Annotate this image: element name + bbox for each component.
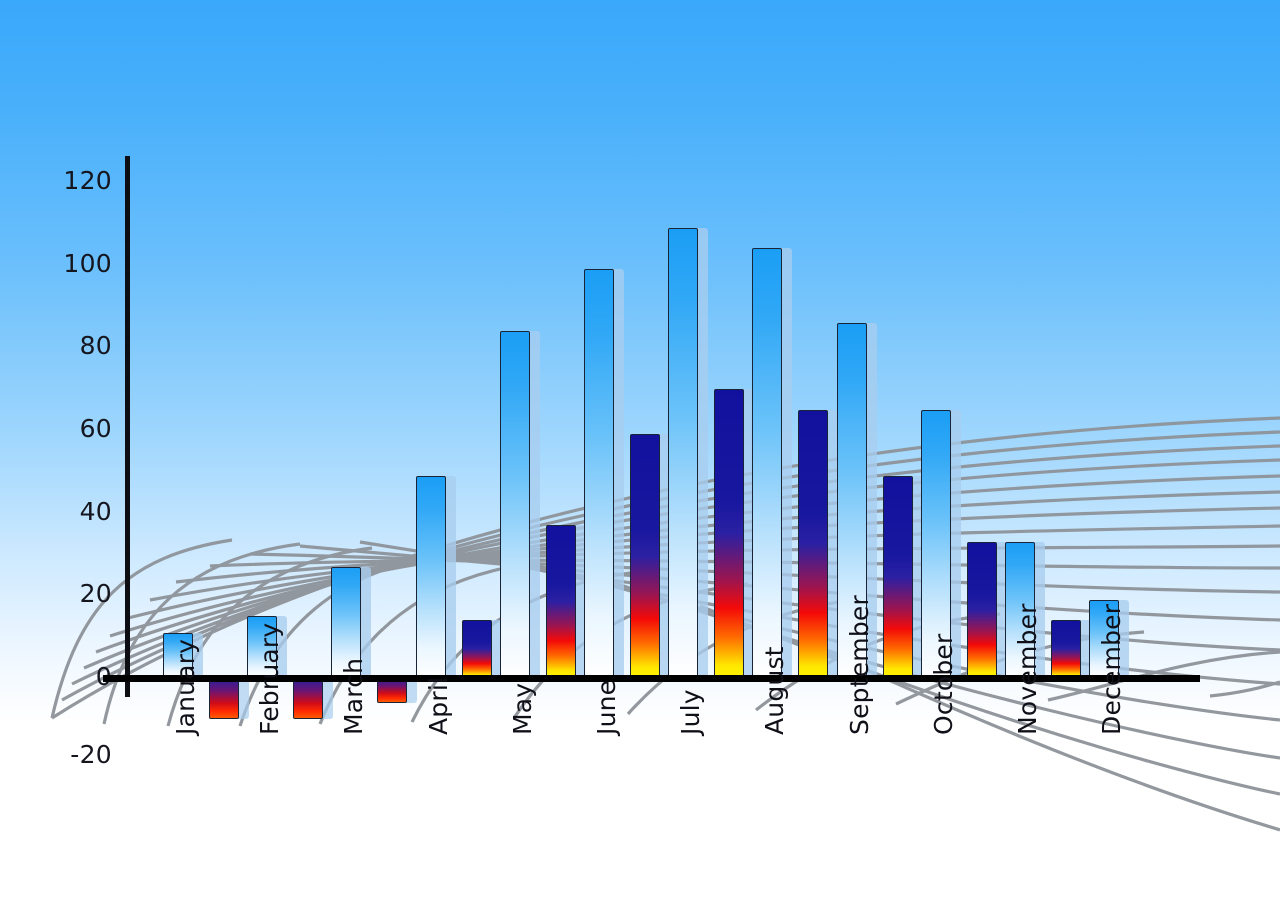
bar-face <box>668 228 698 678</box>
bar-august-s1 <box>752 248 782 678</box>
y-tick-neg20: -20 <box>70 740 112 769</box>
bar-september-s2 <box>883 476 913 678</box>
bar-february-s2 <box>293 678 323 719</box>
bar-face <box>293 678 323 719</box>
y-tick-100: 100 <box>63 249 112 278</box>
bar-july-s1 <box>668 228 698 678</box>
bar-may-s2 <box>546 525 576 678</box>
y-tick-40: 40 <box>80 497 112 526</box>
bar-face <box>714 389 744 678</box>
bar-june-s1 <box>584 269 614 678</box>
bar-face <box>546 525 576 678</box>
bar-face <box>500 331 530 678</box>
bar-april-s2 <box>462 620 492 678</box>
bar-face <box>798 410 828 678</box>
x-label-february: February <box>255 623 284 735</box>
x-label-october: October <box>929 634 958 735</box>
x-label-december: December <box>1097 604 1126 735</box>
bar-face <box>967 542 997 678</box>
y-axis-line <box>125 156 130 697</box>
bar-face <box>209 678 239 719</box>
bar-face <box>752 248 782 678</box>
bar-face <box>584 269 614 678</box>
x-label-july: July <box>676 689 705 735</box>
x-label-january: January <box>171 639 200 735</box>
bar-face <box>416 476 446 678</box>
y-tick-60: 60 <box>80 414 112 443</box>
x-label-may: May <box>508 683 537 735</box>
bar-june-s2 <box>630 434 660 678</box>
bar-october-s2 <box>967 542 997 678</box>
chart-canvas: 120 100 80 60 40 20 0 -20 JanuaryFebruar… <box>0 0 1280 905</box>
x-label-march: March <box>339 658 368 735</box>
x-label-april: April <box>424 677 453 735</box>
bar-august-s2 <box>798 410 828 678</box>
bar-january-s2 <box>209 678 239 719</box>
bar-may-s1 <box>500 331 530 678</box>
bar-april-s1 <box>416 476 446 678</box>
x-label-november: November <box>1013 603 1042 735</box>
bar-face <box>883 476 913 678</box>
y-tick-80: 80 <box>80 331 112 360</box>
bar-face <box>630 434 660 678</box>
bar-july-s2 <box>714 389 744 678</box>
bar-november-s2 <box>1051 620 1081 678</box>
x-label-august: August <box>760 646 789 735</box>
plot-area: 120 100 80 60 40 20 0 -20 JanuaryFebruar… <box>0 0 1280 905</box>
bar-face <box>462 620 492 678</box>
bar-face <box>1051 620 1081 678</box>
y-tick-120: 120 <box>63 166 112 195</box>
x-label-june: June <box>592 680 621 735</box>
x-label-september: September <box>845 595 874 735</box>
y-tick-20: 20 <box>80 579 112 608</box>
